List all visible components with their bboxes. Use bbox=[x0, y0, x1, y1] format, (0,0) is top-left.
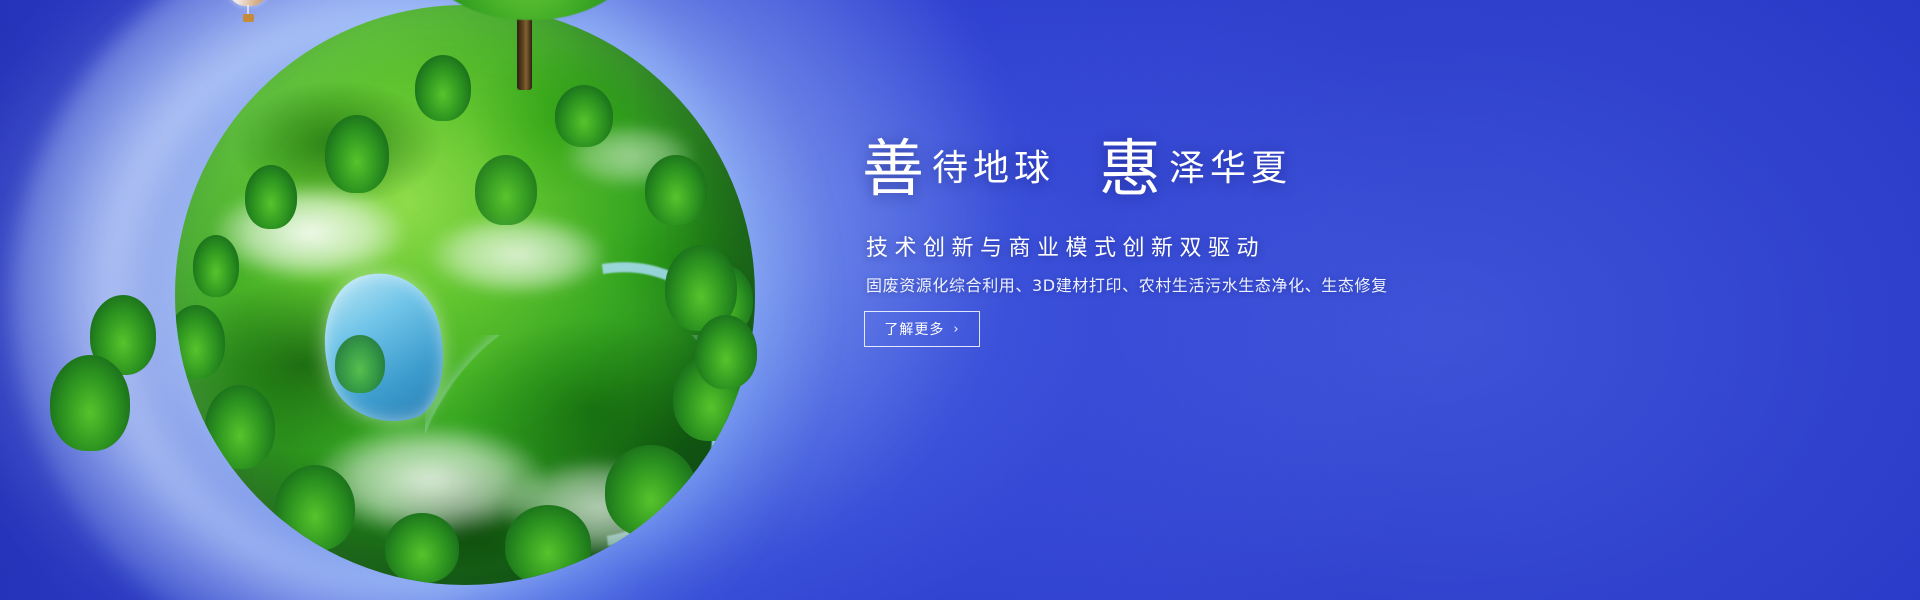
tree-icon bbox=[505, 505, 591, 585]
hero-banner: 善待地球惠泽华夏 技术创新与商业模式创新双驱动 固废资源化综合利用、3D建材打印… bbox=[0, 0, 1920, 600]
tree-icon bbox=[645, 155, 707, 225]
learn-more-label: 了解更多 bbox=[884, 319, 944, 339]
globe-cloud-icon bbox=[215, 185, 405, 280]
balloon-basket-icon bbox=[243, 14, 254, 22]
hero-content: 善待地球惠泽华夏 技术创新与商业模式创新双驱动 固废资源化综合利用、3D建材打印… bbox=[862, 0, 1582, 600]
tree-icon bbox=[415, 55, 471, 121]
tree-icon bbox=[245, 165, 297, 229]
tree-icon bbox=[175, 305, 225, 379]
headline-char-primary-2: 惠 bbox=[1099, 132, 1161, 205]
headline-char-primary-1: 善 bbox=[862, 132, 924, 205]
planet-illustration bbox=[80, 0, 840, 600]
tree-icon bbox=[555, 85, 613, 147]
tree-icon bbox=[193, 235, 239, 297]
hot-air-balloon-icon bbox=[225, 0, 285, 40]
hero-description: 固废资源化综合利用、3D建材打印、农村生活污水生态净化、生态修复 bbox=[866, 272, 1388, 296]
headline-text-2: 泽华夏 bbox=[1169, 148, 1292, 189]
tree-icon bbox=[335, 335, 385, 393]
tree-icon bbox=[385, 513, 459, 583]
tree-icon bbox=[50, 355, 130, 451]
tree-icon bbox=[475, 155, 537, 225]
tree-icon bbox=[275, 465, 355, 551]
bird-flock-icon bbox=[665, 0, 805, 10]
learn-more-button[interactable]: 了解更多 › bbox=[864, 311, 980, 347]
chevron-right-icon: › bbox=[953, 323, 959, 336]
hero-subtitle: 技术创新与商业模式创新双驱动 bbox=[866, 230, 1265, 262]
tree-icon bbox=[325, 115, 389, 193]
hero-headline: 善待地球惠泽华夏 bbox=[862, 138, 1292, 200]
globe-cloud-icon bbox=[430, 215, 605, 295]
tree-icon bbox=[605, 445, 697, 537]
tree-icon bbox=[695, 315, 757, 389]
tree-icon bbox=[205, 385, 275, 469]
headline-text-1: 待地球 bbox=[932, 148, 1055, 189]
